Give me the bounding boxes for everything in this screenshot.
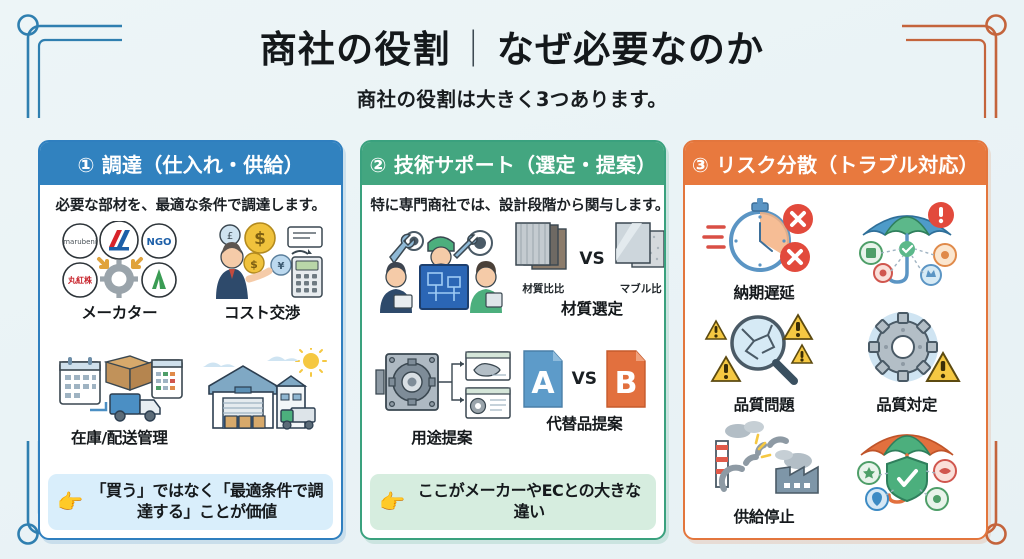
callout-technical-support: 👉 ここがメーカーやECとの大きな違い: [370, 474, 655, 530]
procurement-row-1: marubeni NGO 丸紅株: [48, 221, 333, 348]
page-title: 商社の役割｜なぜ必要なのか: [0, 28, 1024, 72]
risk-item-umbrella-shield: [835, 421, 978, 527]
ab-vs-label: VS: [572, 369, 597, 389]
callout-text-technical-support: ここがメーカーやECとの大きな違い: [411, 481, 646, 523]
businessman-coins-calculator-icon: £ $ $ ¥: [196, 221, 328, 299]
engineers-blueprint-gears-icon: [370, 221, 512, 313]
maker-logos-gear-icon: marubeni NGO 丸紅株: [55, 221, 183, 299]
material-vs-label: VS: [579, 249, 604, 269]
svg-text:$: $: [250, 258, 258, 271]
card-lead-technical-support: 特に専門商社では、設計段階から関与します。: [370, 194, 655, 215]
procurement-item-cost: £ $ $ ¥: [191, 221, 334, 348]
umbrella-shield-icon: [845, 421, 969, 513]
stopwatch-error-icon: [702, 197, 826, 279]
risk-label-quality-measure: 品質対定: [876, 393, 937, 415]
svg-text:marubeni: marubeni: [64, 238, 98, 246]
svg-text:B: B: [615, 366, 638, 401]
svg-text:$: $: [254, 229, 266, 249]
card-header-technical-support: ② 技術サポート（選定・提案）: [362, 142, 663, 185]
pointing-hand-icon: 👉: [57, 489, 83, 516]
svg-text:NGO: NGO: [147, 237, 172, 248]
card-technical-support: ② 技術サポート（選定・提案） 特に専門商社では、設計段階から関与します。: [360, 140, 665, 540]
gear-warning-icon: [845, 309, 969, 391]
procurement-item-inventory: 在庫/配送管理: [48, 348, 191, 475]
card-header-procurement: ① 調達（仕入れ・供給）: [40, 142, 341, 185]
svg-text:A: A: [531, 366, 555, 401]
page-header: 商社の役割｜なぜ必要なのか 商社の役割は大きく3つあります。: [0, 28, 1024, 112]
svg-text:丸紅株: 丸紅株: [67, 275, 93, 285]
page-title-divider: ｜: [451, 28, 497, 71]
pointing-hand-icon: 👉: [379, 489, 405, 516]
callout-text-procurement: 「買う」ではなく「最適条件で調達する」ことが価値: [89, 481, 324, 523]
ab-compare-row: A VS B: [519, 348, 650, 410]
risk-item-delay: 納期遅延: [693, 197, 836, 303]
columns-container: ① 調達（仕入れ・供給） 必要な部材を、最適な条件で調達します。 maruben…: [38, 140, 988, 540]
page-subtitle: 商社の役割は大きく3つあります。: [0, 83, 1024, 112]
machine-spec-sheets-icon: [372, 348, 512, 424]
page-title-right: なぜ必要なのか: [497, 28, 764, 71]
magnifier-crack-warning-icon: [702, 309, 826, 391]
tech-label-alternative: 代替品提案: [546, 412, 622, 434]
procurement-label-cost: コスト交渉: [224, 301, 300, 323]
procurement-label-inventory: 在庫/配送管理: [71, 426, 168, 448]
material-caption-left: 材質比比: [522, 281, 564, 296]
warning-triangle: [784, 315, 812, 339]
svg-text:£: £: [227, 231, 233, 242]
calendar-truck-icon: [54, 348, 184, 424]
document-a-icon: A: [519, 348, 567, 410]
broken-chain-factory-icon: [702, 421, 826, 503]
procurement-item-makers: marubeni NGO 丸紅株: [48, 221, 191, 348]
tech-row-1: 材質比比 VS: [370, 221, 655, 348]
tech-label-material: 材質選定: [561, 297, 623, 319]
risk-item-umbrella-protection: [835, 197, 978, 303]
card-body-technical-support: 特に専門商社では、設計段階から関与します。: [362, 185, 663, 538]
material-swatch-compare-icon: [512, 221, 574, 279]
card-body-procurement: 必要な部材を、最適な条件で調達します。 marubeni: [40, 185, 341, 538]
document-b-icon: B: [602, 348, 650, 410]
card-lead-procurement: 必要な部材を、最適な条件で調達します。: [48, 194, 333, 215]
marble-swatch-icon: [610, 221, 666, 279]
infographic-canvas: 商社の役割｜なぜ必要なのか 商社の役割は大きく3つあります。 ① 調達（仕入れ・…: [0, 0, 1024, 559]
procurement-label-makers: メーカター: [81, 301, 157, 323]
tech-label-usage: 用途提案: [411, 426, 472, 448]
page-title-left: 商社の役割: [260, 28, 451, 71]
warning-triangle: [712, 357, 740, 381]
risk-label-supply-stop: 供給停止: [734, 505, 795, 527]
warehouse-sun-icon: [195, 348, 329, 434]
card-risk: ③ リスク分散（トラブル対応）: [683, 140, 988, 540]
material-compare-right: マブル比: [610, 221, 666, 296]
risk-item-quality-measure: 品質対定: [835, 309, 978, 415]
risk-item-quality-problem: 品質問題: [693, 309, 836, 415]
svg-text:¥: ¥: [278, 261, 285, 272]
material-caption-right: マブル比: [620, 281, 662, 296]
umbrella-protection-icon: [845, 197, 969, 293]
tech-item-engineers: [370, 221, 512, 348]
warning-triangle: [792, 345, 812, 363]
risk-label-delay: 納期遅延: [734, 281, 795, 303]
tech-item-material: 材質比比 VS: [512, 221, 665, 348]
callout-procurement: 👉 「買う」ではなく「最適条件で調達する」ことが価値: [48, 474, 333, 530]
procurement-item-warehouse: [191, 348, 334, 475]
risk-grid: 納期遅延: [693, 194, 978, 530]
risk-item-supply-stop: 供給停止: [693, 421, 836, 527]
procurement-row-2: 在庫/配送管理: [48, 348, 333, 475]
tech-item-usage: 用途提案: [370, 348, 513, 475]
tech-item-alternative: A VS B 代替品提案: [513, 348, 656, 475]
card-body-risk: 納期遅延: [685, 185, 986, 538]
material-compare-row: 材質比比 VS: [512, 221, 665, 296]
card-procurement: ① 調達（仕入れ・供給） 必要な部材を、最適な条件で調達します。 maruben…: [38, 140, 343, 540]
warning-triangle: [706, 321, 726, 339]
material-compare-left: 材質比比: [512, 221, 574, 296]
card-header-risk: ③ リスク分散（トラブル対応）: [685, 142, 986, 185]
risk-label-quality-problem: 品質問題: [734, 393, 795, 415]
tech-row-2: 用途提案 A VS: [370, 348, 655, 475]
